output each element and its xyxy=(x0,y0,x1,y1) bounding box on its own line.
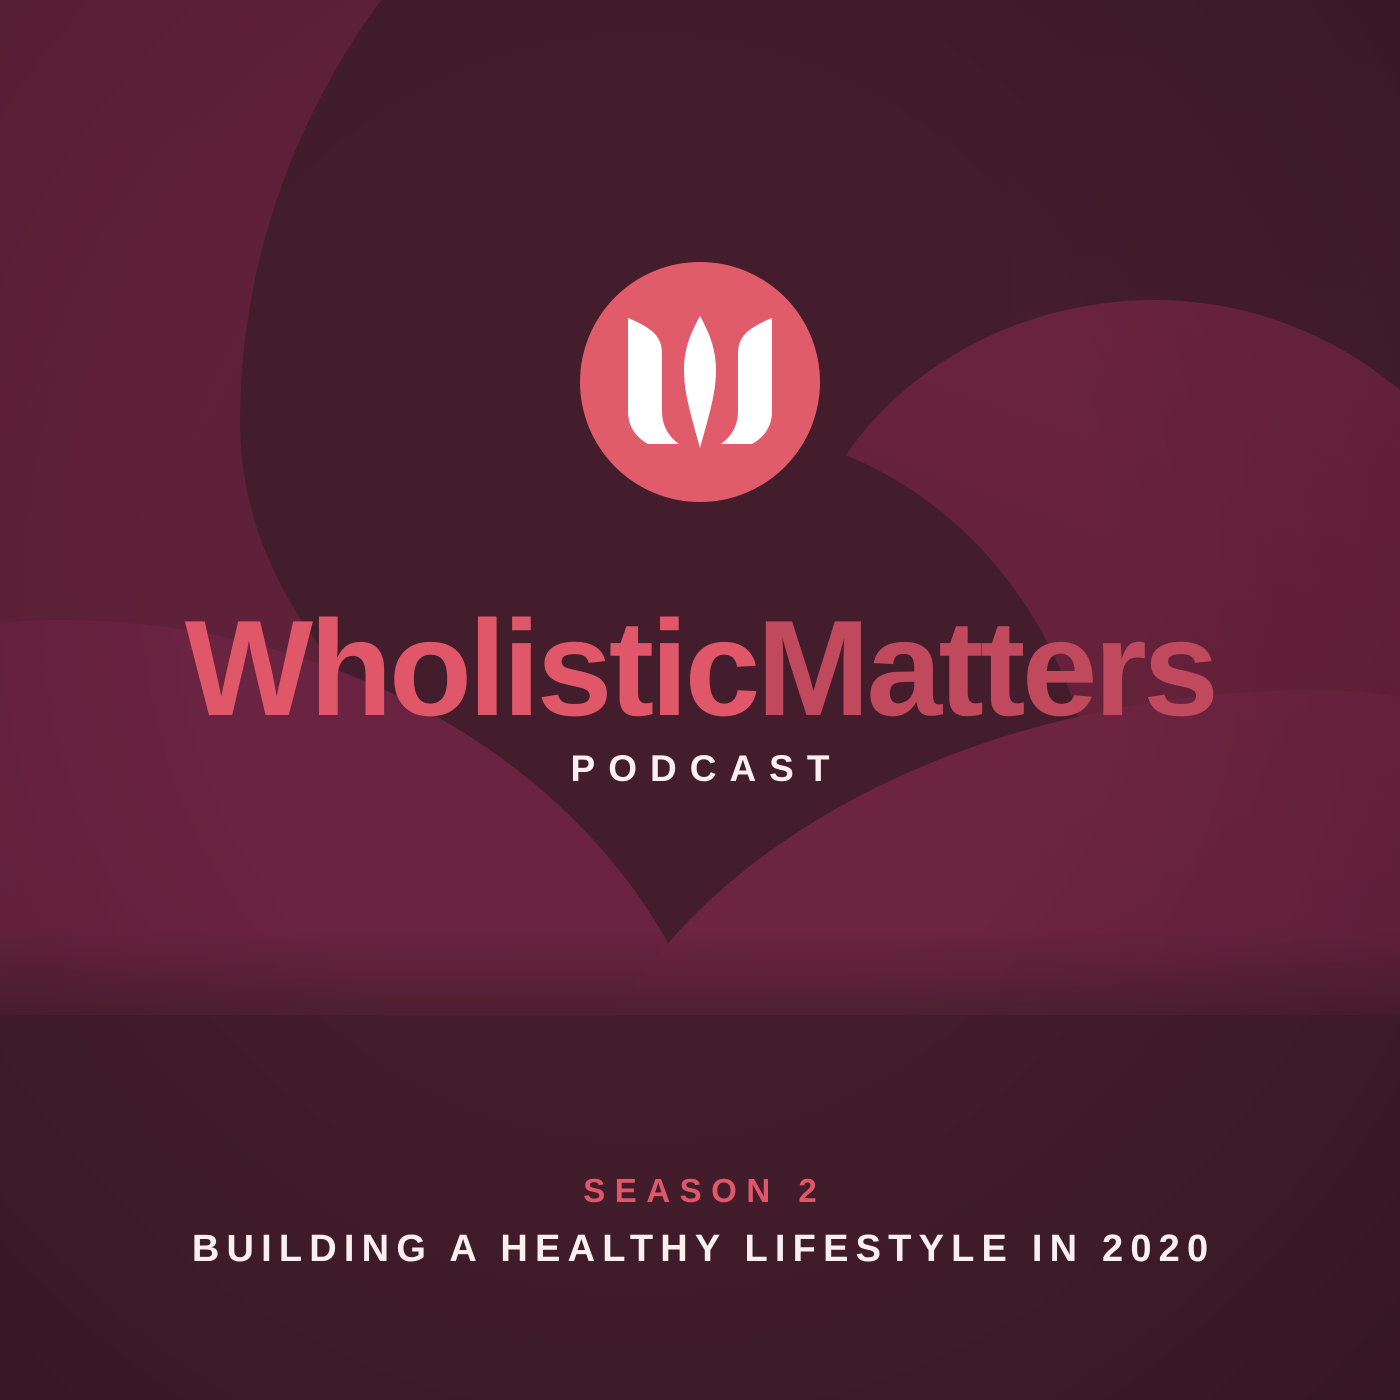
podcast-subtitle: PODCAST xyxy=(0,748,1400,790)
background-blob-left-mid xyxy=(0,0,700,1080)
background-blob-bottom-fade xyxy=(0,930,1400,1080)
wordmark-part-two: Matters xyxy=(757,592,1216,744)
background-blob-mid-right xyxy=(560,690,1400,1400)
brand-logo xyxy=(580,262,820,502)
wordmark-part-one: Wholistic xyxy=(185,592,757,744)
podcast-cover-art: WholisticMatters PODCAST SEASON 2 BUILDI… xyxy=(0,0,1400,1400)
background-blob-dark-center xyxy=(300,430,1100,1170)
season-label: SEASON 2 xyxy=(0,1172,1400,1210)
wholistic-w-lotus-icon xyxy=(624,316,776,448)
brand-wordmark: WholisticMatters xyxy=(0,600,1400,736)
season-tagline: BUILDING A HEALTHY LIFESTYLE IN 2020 xyxy=(0,1228,1400,1271)
